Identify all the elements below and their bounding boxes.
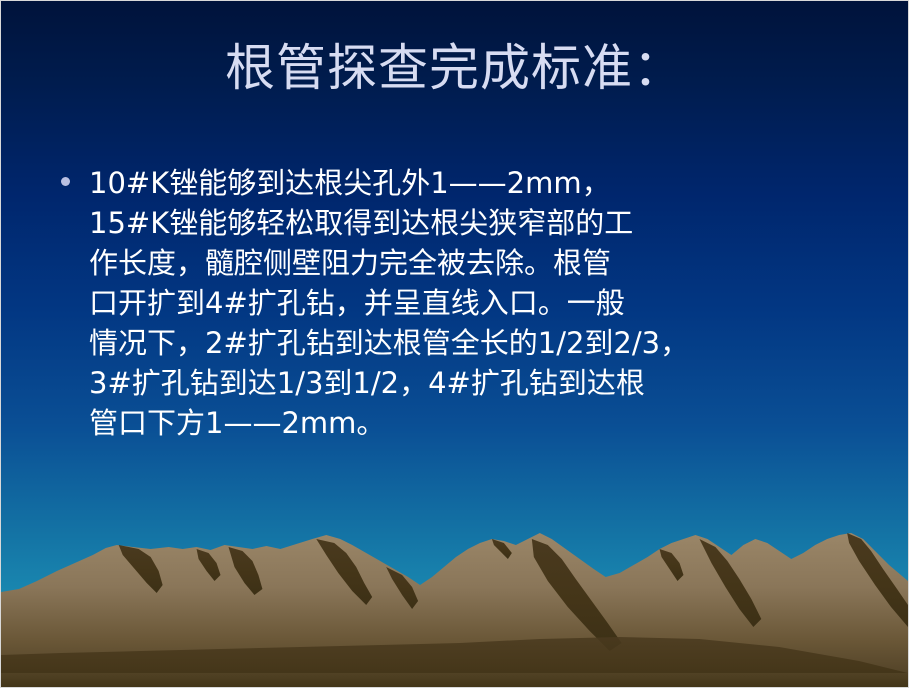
slide-title-text: 根管探查完成标准： <box>225 39 684 98</box>
slide-title: 根管探查完成标准： <box>1 39 908 98</box>
slide-body: 10#K锉能够到达根尖孔外1——2mm， 15#K锉能够轻松取得到达根尖狭窄部的… <box>57 163 857 443</box>
bullet-item-text: 10#K锉能够到达根尖孔外1——2mm， 15#K锉能够轻松取得到达根尖狭窄部的… <box>89 163 857 443</box>
presentation-slide: 根管探查完成标准： 10#K锉能够到达根尖孔外1——2mm， 15#K锉能够轻松… <box>0 0 909 688</box>
bullet-list-item: 10#K锉能够到达根尖孔外1——2mm， 15#K锉能够轻松取得到达根尖狭窄部的… <box>57 163 857 443</box>
mountain-range-graphic <box>1 497 908 687</box>
bullet-dot-icon <box>61 177 70 186</box>
